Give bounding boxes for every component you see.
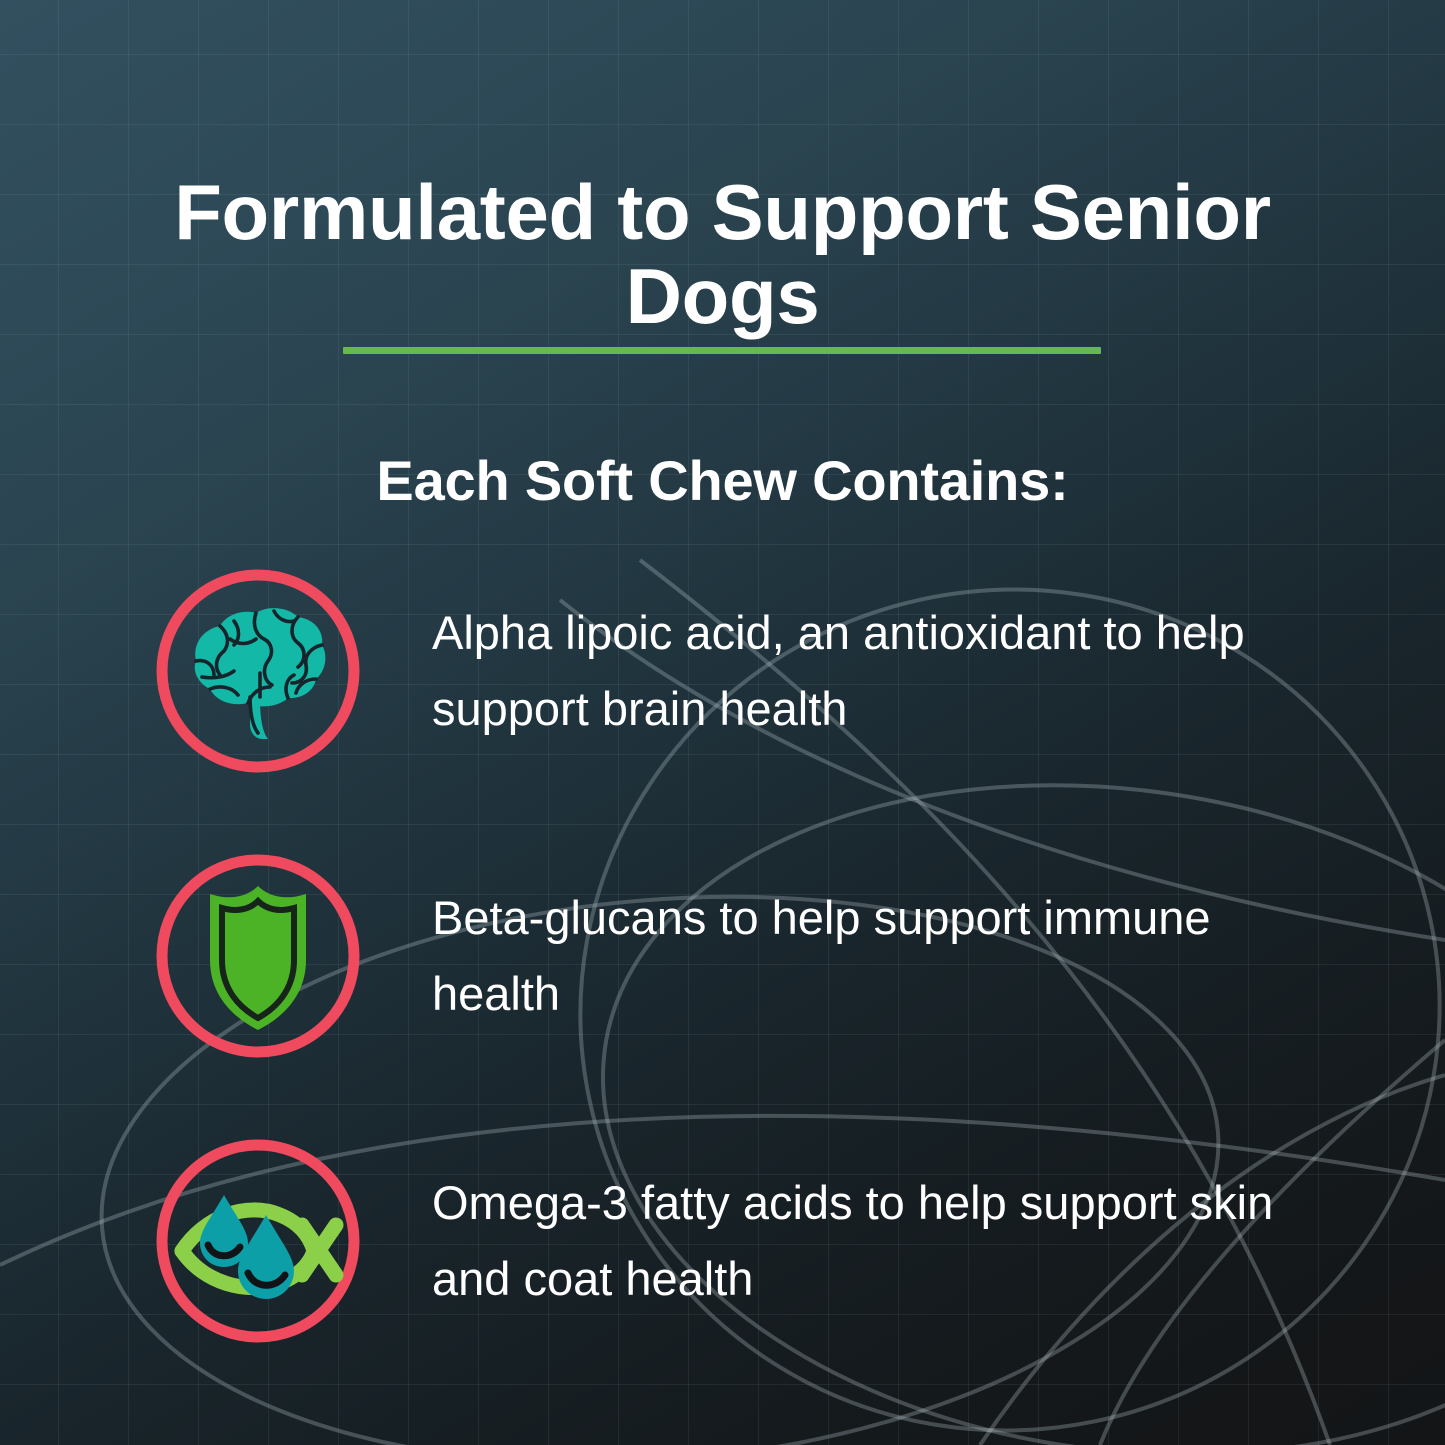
promo-graphic: Formulated to Support Senior Dogs Each S…: [0, 0, 1445, 1445]
list-item-label: Alpha lipoic acid, an antioxidant to hel…: [432, 595, 1445, 747]
shield-icon: [150, 848, 366, 1064]
subheading: Each Soft Chew Contains:: [0, 448, 1445, 513]
page-title: Formulated to Support Senior Dogs: [0, 170, 1445, 338]
benefits-list: Alpha lipoic acid, an antioxidant to hel…: [0, 555, 1445, 1410]
list-item-label: Beta-glucans to help support immune heal…: [432, 880, 1445, 1032]
list-item: Omega-3 fatty acids to help support skin…: [0, 1125, 1445, 1357]
fish-droplets-icon: [150, 1133, 366, 1349]
list-item: Beta-glucans to help support immune heal…: [0, 840, 1445, 1072]
divider-rule: [343, 347, 1101, 354]
list-item-label: Omega-3 fatty acids to help support skin…: [432, 1165, 1445, 1317]
brain-icon: [150, 563, 366, 779]
list-item: Alpha lipoic acid, an antioxidant to hel…: [0, 555, 1445, 787]
